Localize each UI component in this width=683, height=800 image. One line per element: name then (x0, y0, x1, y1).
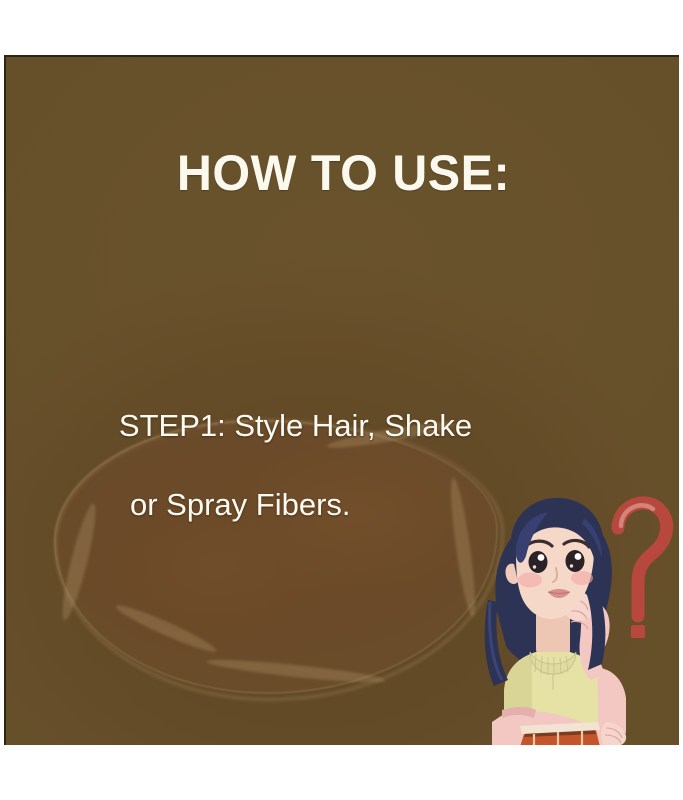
page-margin-bottom (0, 745, 683, 800)
page-title: HOW TO USE: (16, 144, 671, 202)
orange-book (520, 722, 600, 747)
page-margin-left (0, 0, 4, 800)
brown-panel: HOW TO USE: STEP1: Style Hair, Shake or … (4, 55, 681, 747)
page-margin-top (0, 0, 683, 55)
poster-canvas: HOW TO USE: STEP1: Style Hair, Shake or … (0, 0, 683, 800)
blush-right (571, 571, 593, 585)
question-mark-icon (618, 503, 667, 638)
page-margin-right (679, 0, 683, 800)
eye-right (566, 550, 585, 572)
eye-left (529, 551, 548, 573)
blush-left (518, 573, 542, 588)
thinking-woman-illustration (472, 482, 681, 747)
step-1-line-1: STEP1: Style Hair, Shake (119, 408, 472, 443)
